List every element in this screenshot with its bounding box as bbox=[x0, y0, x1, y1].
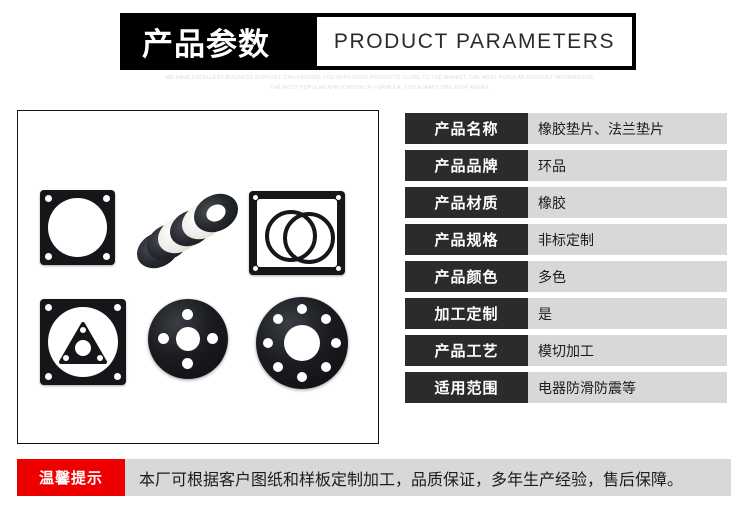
header-subtitle-line-2: THE MOST POPULAR APPLICATION OF FORMULA,… bbox=[110, 84, 650, 94]
param-value: 橡胶垫片、法兰垫片 bbox=[528, 113, 727, 144]
bolt-hole bbox=[273, 314, 283, 324]
tip-bar: 温馨提示 本厂可根据客户图纸和样板定制加工，品质保证，多年生产经验，售后保障。 bbox=[17, 459, 731, 496]
param-label: 产品工艺 bbox=[405, 335, 528, 366]
table-row: 加工定制 是 bbox=[405, 298, 727, 329]
flange-gasket-8-hole bbox=[256, 297, 348, 389]
table-row: 产品颜色 多色 bbox=[405, 261, 727, 292]
corner-hole-icon bbox=[253, 266, 258, 271]
bolt-hole bbox=[273, 362, 283, 372]
bolt-hole bbox=[297, 372, 307, 382]
param-value: 橡胶 bbox=[528, 187, 727, 218]
bolt-hole bbox=[182, 309, 193, 320]
bolt-hole bbox=[297, 304, 307, 314]
corner-hole-icon bbox=[45, 304, 52, 311]
param-label: 产品材质 bbox=[405, 187, 528, 218]
corner-hole-icon bbox=[336, 266, 341, 271]
gasket-square-round-hole bbox=[40, 190, 115, 265]
triangle-insert bbox=[59, 322, 107, 366]
flange-gasket-4-hole bbox=[148, 299, 228, 379]
table-row: 产品品牌 环品 bbox=[405, 150, 727, 181]
bolt-hole bbox=[158, 333, 169, 344]
param-value: 非标定制 bbox=[528, 224, 727, 255]
tip-text: 本厂可根据客户图纸和样板定制加工，品质保证，多年生产经验，售后保障。 bbox=[125, 466, 683, 490]
header-subtitle: WE HAVE EXCELLENT BUSINESS SUPPORT, CAN … bbox=[110, 74, 650, 93]
corner-hole-icon bbox=[45, 195, 52, 202]
table-row: 产品材质 橡胶 bbox=[405, 187, 727, 218]
corner-hole-icon bbox=[253, 195, 258, 200]
bolt-hole bbox=[182, 358, 193, 369]
product-image-panel bbox=[17, 110, 379, 444]
table-row: 产品规格 非标定制 bbox=[405, 224, 727, 255]
page-title-cn: 产品参数 bbox=[142, 19, 270, 64]
corner-hole-icon bbox=[45, 253, 52, 260]
param-value: 模切加工 bbox=[528, 335, 727, 366]
gasket-square-frame-orings bbox=[249, 191, 345, 275]
param-label: 产品品牌 bbox=[405, 150, 528, 181]
corner-hole-icon bbox=[45, 373, 52, 380]
param-value: 电器防滑防震等 bbox=[528, 372, 727, 403]
o-ring bbox=[283, 212, 335, 264]
param-value: 环品 bbox=[528, 150, 727, 181]
param-label: 产品颜色 bbox=[405, 261, 528, 292]
gasket-washer-stack bbox=[136, 191, 246, 276]
bolt-hole bbox=[321, 314, 331, 324]
param-value: 多色 bbox=[528, 261, 727, 292]
gasket-round-hole bbox=[48, 198, 107, 257]
param-label: 适用范围 bbox=[405, 372, 528, 403]
bolt-hole bbox=[207, 333, 218, 344]
header-subtitle-line-1: WE HAVE EXCELLENT BUSINESS SUPPORT, CAN … bbox=[110, 74, 650, 84]
corner-hole-icon bbox=[336, 195, 341, 200]
flange-center-hole bbox=[176, 327, 200, 351]
gasket-square-triangle-hole bbox=[40, 299, 126, 385]
corner-hole-icon bbox=[103, 253, 110, 260]
param-label: 产品名称 bbox=[405, 113, 528, 144]
bolt-hole bbox=[263, 338, 273, 348]
corner-hole-icon bbox=[114, 373, 121, 380]
bolt-hole bbox=[321, 362, 331, 372]
page-title-en-box: PRODUCT PARAMETERS bbox=[317, 17, 632, 66]
triangle-gasket-icon bbox=[59, 322, 107, 366]
param-label: 加工定制 bbox=[405, 298, 528, 329]
page-header-banner: 产品参数 PRODUCT PARAMETERS bbox=[120, 13, 636, 70]
bolt-hole bbox=[331, 338, 341, 348]
washer-hole bbox=[203, 201, 228, 225]
corner-hole-icon bbox=[103, 195, 110, 202]
param-value: 是 bbox=[528, 298, 727, 329]
table-row: 产品工艺 模切加工 bbox=[405, 335, 727, 366]
corner-hole-icon bbox=[114, 304, 121, 311]
product-parameters-table: 产品名称 橡胶垫片、法兰垫片 产品品牌 环品 产品材质 橡胶 产品规格 非标定制… bbox=[405, 113, 727, 409]
param-label: 产品规格 bbox=[405, 224, 528, 255]
table-row: 产品名称 橡胶垫片、法兰垫片 bbox=[405, 113, 727, 144]
flange-center-hole bbox=[284, 325, 320, 361]
tip-badge: 温馨提示 bbox=[17, 459, 125, 496]
page-title-en: PRODUCT PARAMETERS bbox=[334, 30, 615, 54]
table-row: 适用范围 电器防滑防震等 bbox=[405, 372, 727, 403]
